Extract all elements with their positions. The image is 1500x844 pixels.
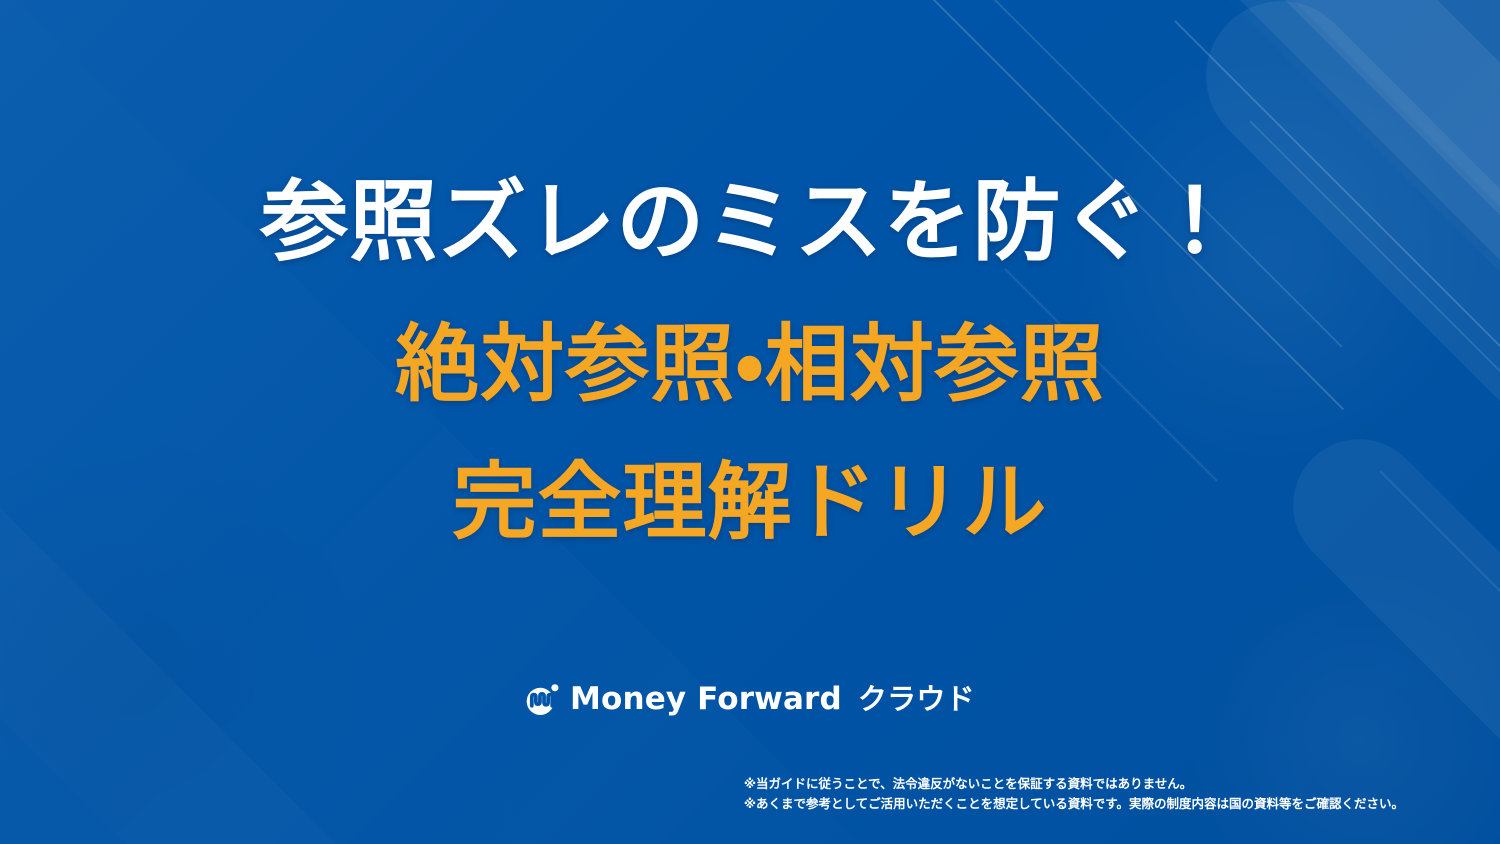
headline-line-1: 参照ズレのミスを防ぐ！ [0,178,1500,266]
brand-logo-lockup: Money Forward クラウド [0,682,1500,716]
title-slide: 参照ズレのミスを防ぐ！ 絶対参照・相対参照 完全理解ドリル Money Forw… [0,0,1500,844]
disclaimer-line-2: ※あくまで参考としてご活用いただくことを想定している資料です。実際の制度内容は国… [744,794,1404,814]
slide-content: 参照ズレのミスを防ぐ！ 絶対参照・相対参照 完全理解ドリル Money Forw… [0,0,1500,844]
disclaimer-line-1: ※当ガイドに従うことで、法令違反がないことを保証する資料ではありません。 [744,774,1404,794]
headline-line-3: 完全理解ドリル [0,460,1500,544]
disclaimer-block: ※当ガイドに従うことで、法令違反がないことを保証する資料ではありません。 ※あく… [744,774,1404,815]
money-forward-logo-mark-icon [525,682,559,716]
brand-wordmark: Money Forward [570,684,842,715]
brand-wordmark-suffix: クラウド [858,685,975,714]
headline-line-2: 絶対参照・相対参照 [0,322,1500,406]
headline-block: 参照ズレのミスを防ぐ！ 絶対参照・相対参照 完全理解ドリル [0,178,1500,544]
